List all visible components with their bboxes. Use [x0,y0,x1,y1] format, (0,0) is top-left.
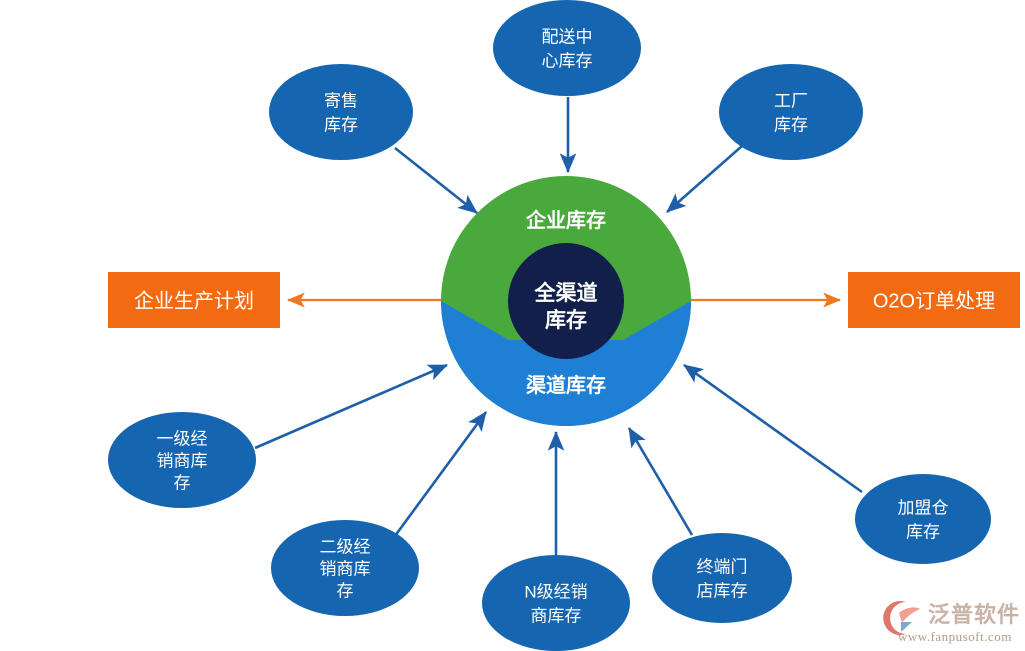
watermark: 泛普软件 www.fanpusoft.com [0,0,1025,651]
watermark-url: www.fanpusoft.com [898,629,1012,644]
diagram-canvas: 企业库存 渠道库存 全渠道 库存 企业生产计划 O2O订单处理 寄售 库存 配送… [0,0,1025,651]
watermark-company: 泛普软件 [928,602,1020,627]
